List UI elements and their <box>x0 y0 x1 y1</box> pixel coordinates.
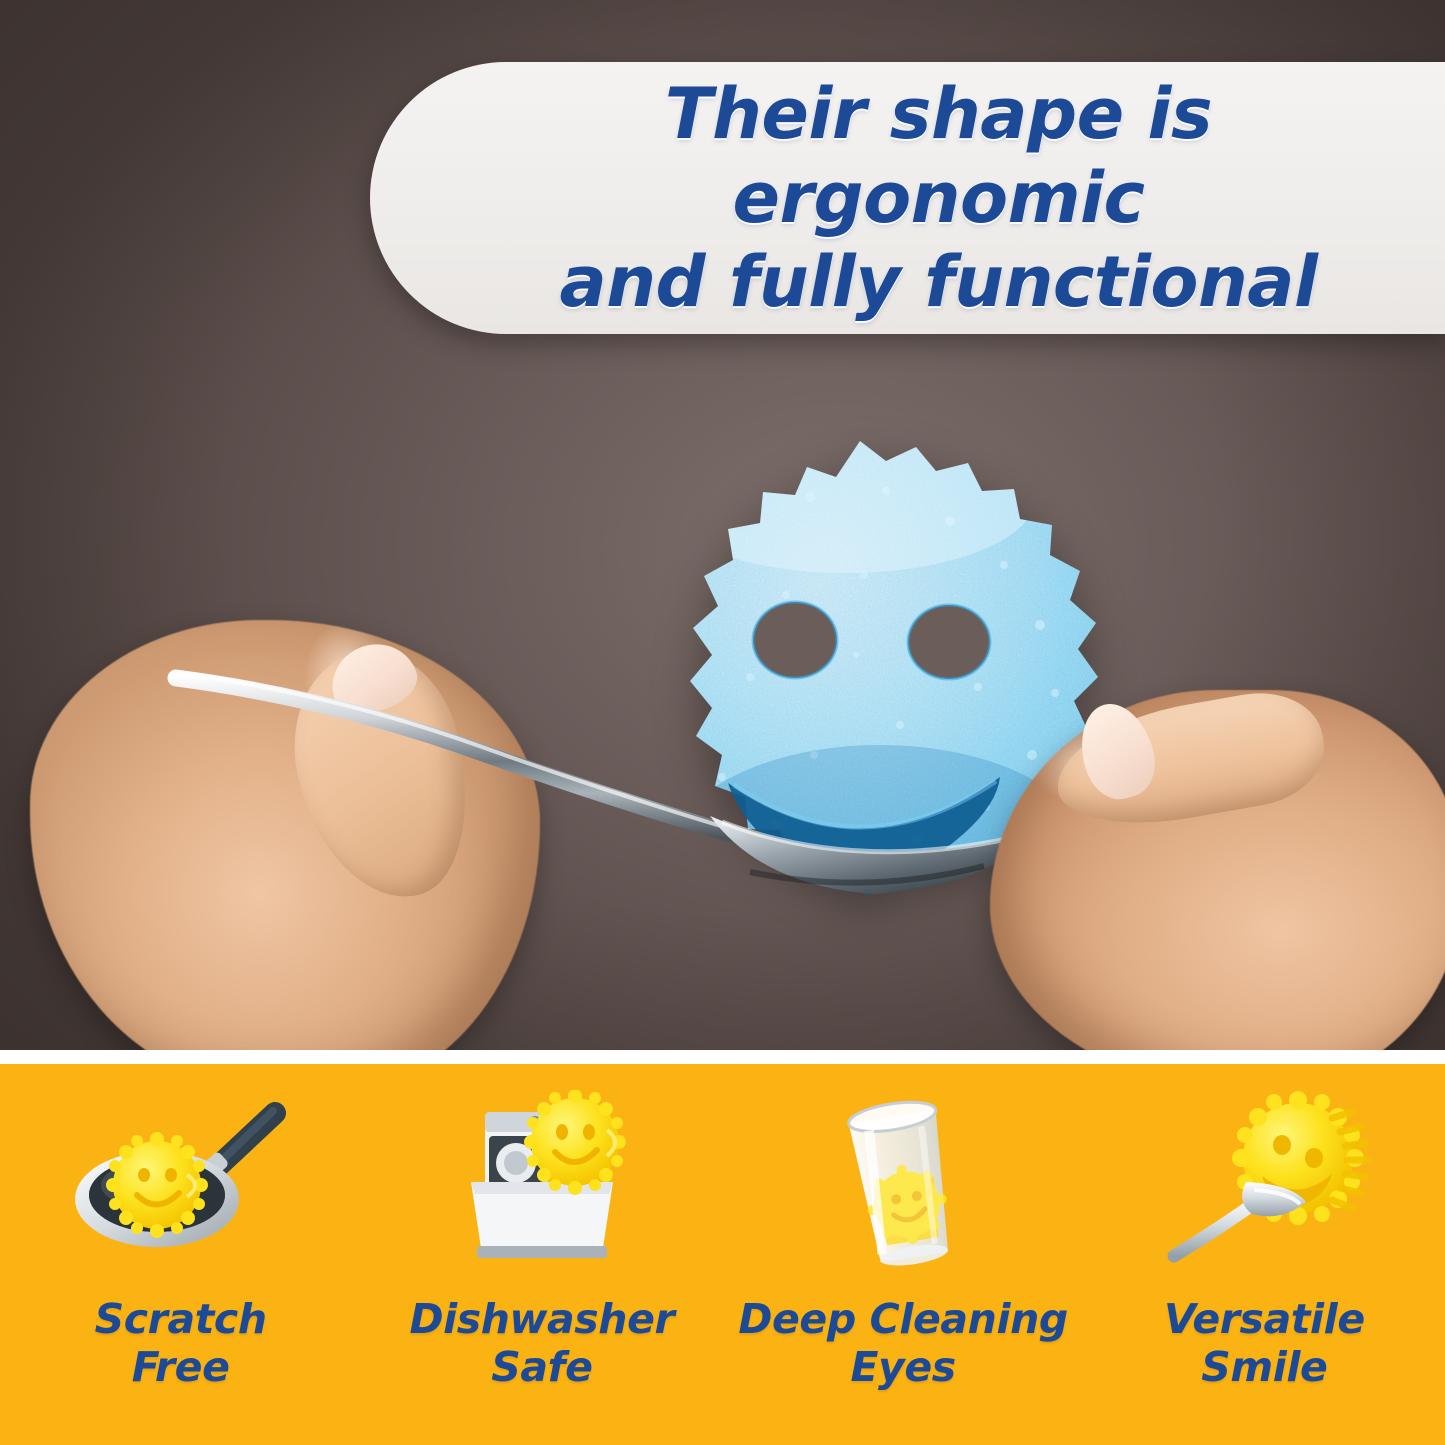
feature-label-line-2: Safe <box>409 1344 674 1392</box>
feature-dishwasher-safe: Dishwasher Safe <box>361 1064 722 1445</box>
feature-label-line-1: Dishwasher <box>409 1295 674 1343</box>
feature-label-line-2: Smile <box>1164 1344 1365 1392</box>
feature-scratch-free: Scratch Free <box>0 1064 361 1445</box>
headline-text: Their shape is ergonomic and fully funct… <box>370 72 1445 324</box>
feature-label-line-2: Eyes <box>738 1344 1067 1392</box>
feature-label: Deep Cleaning Eyes <box>738 1296 1067 1391</box>
headline-banner: Their shape is ergonomic and fully funct… <box>370 62 1445 334</box>
product-marketing-image: Their shape is ergonomic and fully funct… <box>0 0 1445 1445</box>
feature-bar: Scratch Free <box>0 1064 1445 1445</box>
feature-label-line-1: Versatile <box>1164 1295 1365 1343</box>
white-divider <box>0 1050 1445 1064</box>
headline-line-1: Their shape is ergonomic <box>665 73 1212 239</box>
feature-label: Scratch Free <box>95 1296 267 1391</box>
feature-label-line-1: Deep Cleaning <box>738 1295 1067 1343</box>
feature-label: Dishwasher Safe <box>409 1296 674 1391</box>
metal-spoon <box>150 640 1130 910</box>
feature-versatile-smile: Versatile Smile <box>1084 1064 1445 1445</box>
sponge-with-spoon-icon <box>1154 1090 1374 1280</box>
feature-label: Versatile Smile <box>1164 1296 1365 1391</box>
feature-label-line-2: Free <box>95 1344 267 1392</box>
frying-pan-with-sponge-icon <box>61 1090 301 1280</box>
drinking-glass-with-sponge-icon <box>803 1090 1003 1280</box>
headline-line-2: and fully functional <box>466 240 1411 324</box>
dishwasher-with-sponge-icon <box>437 1090 647 1280</box>
feature-label-line-1: Scratch <box>95 1295 267 1343</box>
feature-deep-cleaning-eyes: Deep Cleaning Eyes <box>723 1064 1084 1445</box>
hero-photo: Their shape is ergonomic and fully funct… <box>0 0 1445 1050</box>
